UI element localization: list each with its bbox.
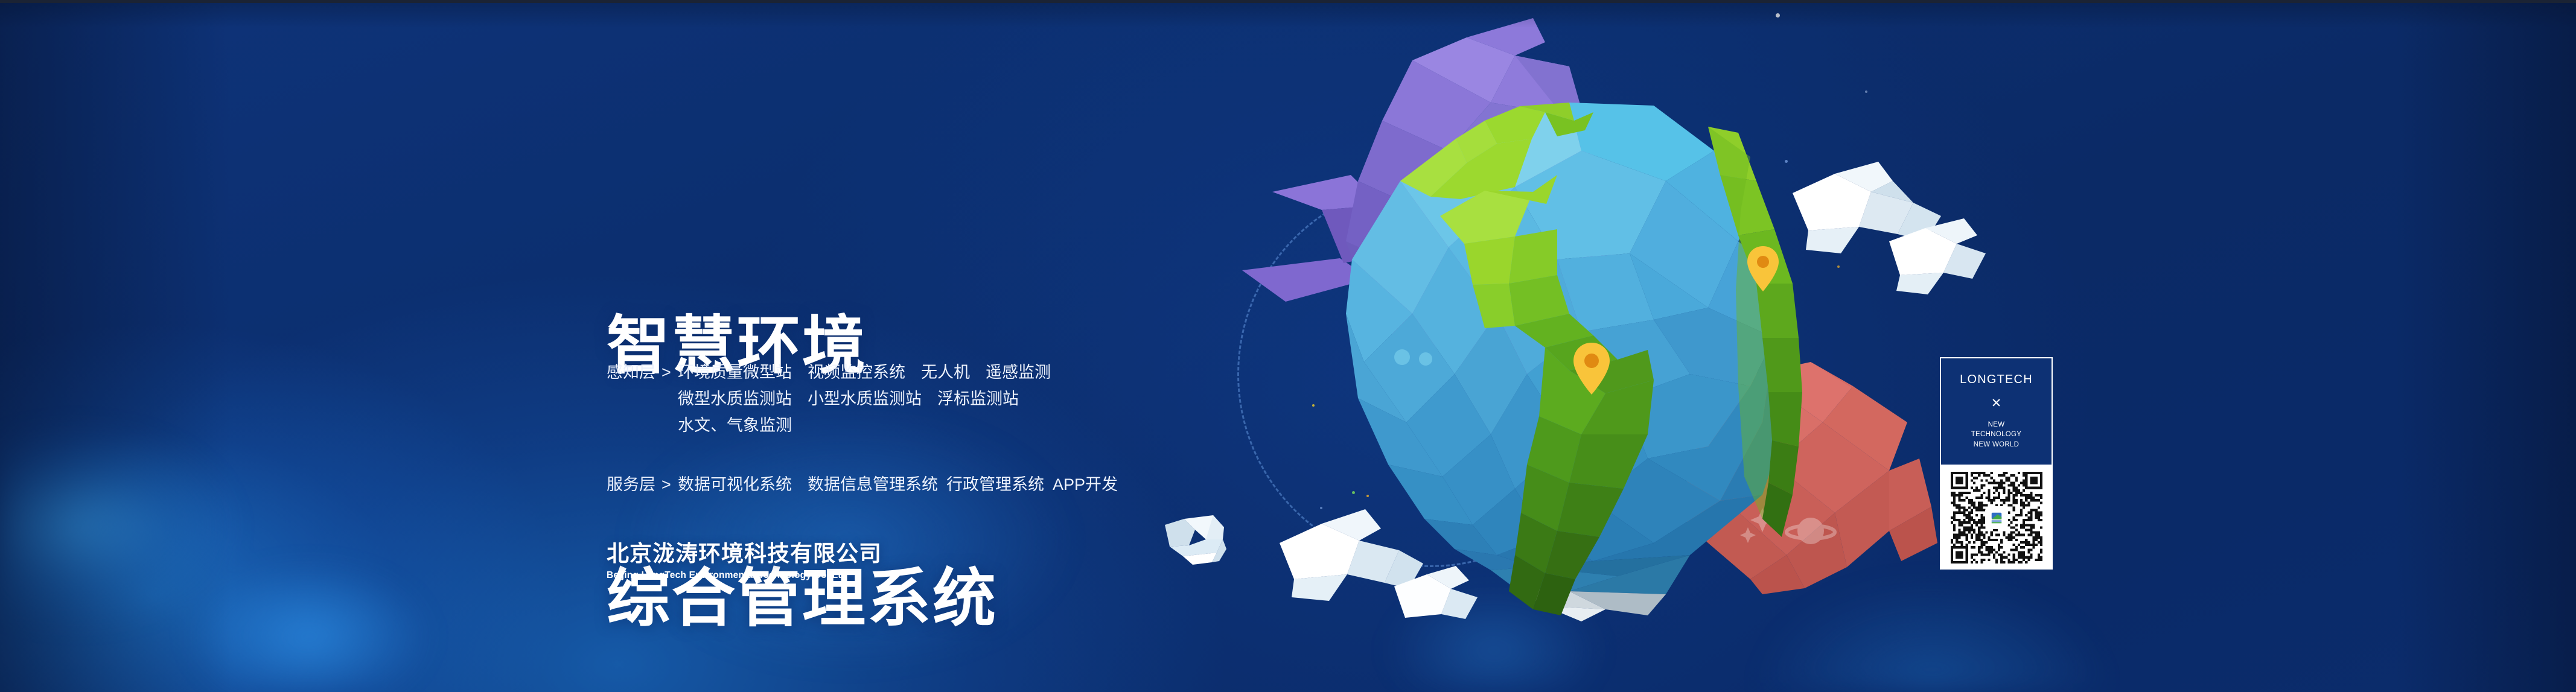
qr-code-image[interactable] [1951,472,2042,563]
layer-row-perception: 感知层> 环境质量微型站视频监控系统无人机遥感监测 微型水质监测站小型水质监测站… [607,359,1118,439]
tagline-line-2: TECHNOLOGY [1971,430,2022,439]
layer-key-perception: 感知层> [607,359,678,386]
layer-line: 环境质量微型站视频监控系统无人机遥感监测 [678,359,1051,386]
layer-item[interactable]: 小型水质监测站 [808,386,922,412]
company-name-en: Beijing LongTech Environmental Technolog… [607,570,882,581]
layer-item[interactable]: 行政管理系统 [946,471,1044,498]
banner-root: 智慧环境 综合管理系统 感知层> 环境质量微型站视频监控系统无人机遥感监测 微型… [0,0,2576,692]
company-name-cn: 北京泷涛环境科技有限公司 [607,541,882,567]
company-block: 北京泷涛环境科技有限公司 Beijing LongTech Environmen… [607,541,882,581]
layer-item[interactable]: 环境质量微型站 [678,359,792,386]
layer-item[interactable]: 遥感监测 [986,359,1051,386]
top-dark-strip [0,0,2576,3]
chevron-right-icon: > [662,363,671,381]
layer-items-perception: 环境质量微型站视频监控系统无人机遥感监测 微型水质监测站小型水质监测站浮标监测站… [678,359,1051,439]
qr-card-header: LONGTECH ✕ NEW TECHNOLOGY NEW WORLD [1940,357,2053,466]
qr-code-box[interactable] [1940,466,2053,570]
chevron-right-icon: > [662,475,671,494]
layer-item[interactable]: 数据可视化系统 [678,471,792,498]
layer-key-label: 服务层 [607,475,655,494]
cross-icon: ✕ [1991,397,2002,410]
qr-card: LONGTECH ✕ NEW TECHNOLOGY NEW WORLD [1940,357,2053,570]
tagline-line-3: NEW WORLD [1971,440,2022,449]
layer-items-service: 数据可视化系统数据信息管理系统行政管理系统APP开发 [678,471,1118,498]
layer-key-label: 感知层 [607,363,655,381]
layer-item[interactable]: 浮标监测站 [937,386,1019,412]
layer-line: 微型水质监测站小型水质监测站浮标监测站 [678,386,1051,412]
layer-item[interactable]: 微型水质监测站 [678,386,792,412]
layer-row-service: 服务层> 数据可视化系统数据信息管理系统行政管理系统APP开发 [607,471,1118,498]
qr-center-logo [1986,507,2007,528]
edge-vignette [0,0,2576,692]
layer-line: 水文、气象监测 [678,412,1051,439]
tagline-line-1: NEW [1971,420,2022,430]
layer-item[interactable]: 视频监控系统 [808,359,905,386]
layer-item[interactable]: APP开发 [1053,471,1118,498]
layer-line: 数据可视化系统数据信息管理系统行政管理系统APP开发 [678,471,1118,498]
layer-item[interactable]: 水文、气象监测 [678,412,792,439]
layer-key-service: 服务层> [607,471,678,498]
layer-item[interactable]: 数据信息管理系统 [808,471,938,498]
brand-name: LONGTECH [1960,373,2033,386]
brand-tagline: NEW TECHNOLOGY NEW WORLD [1971,420,2022,449]
layer-list: 感知层> 环境质量微型站视频监控系统无人机遥感监测 微型水质监测站小型水质监测站… [607,359,1118,498]
layer-item[interactable]: 无人机 [921,359,970,386]
